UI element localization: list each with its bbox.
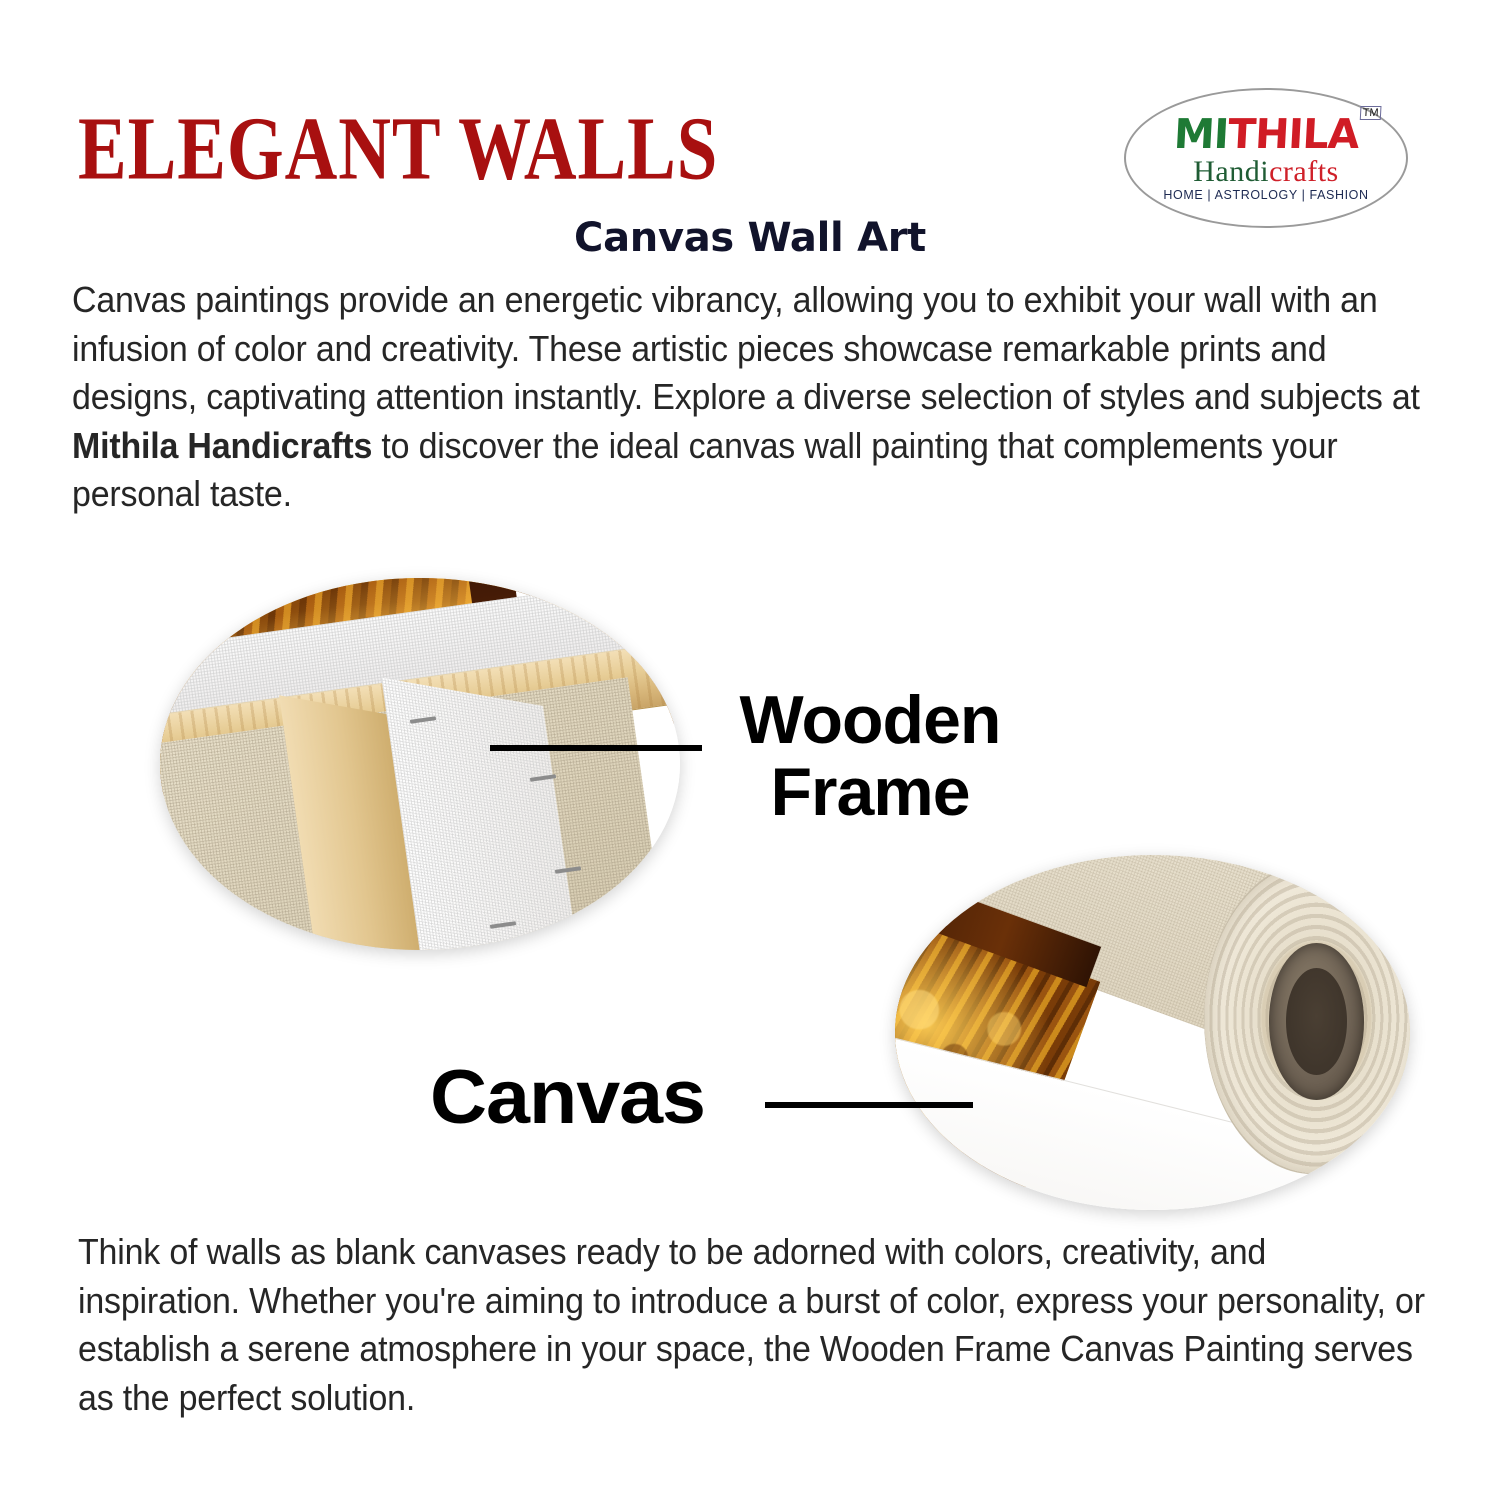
- page-title: ELEGANT WALLS: [78, 104, 718, 194]
- brand-logo: MITHILA TM Handicrafts HOME | ASTROLOGY …: [1124, 88, 1408, 228]
- page-subtitle: Canvas Wall Art: [0, 215, 1500, 261]
- wooden-frame-label-line-1: Wooden: [700, 684, 1040, 756]
- wooden-frame-photo: [160, 578, 680, 950]
- logo-wordmark-part-1: MI: [1173, 110, 1230, 158]
- brand-mention: Mithila Handicrafts: [72, 425, 372, 466]
- logo-tagline: HOME | ASTROLOGY | FASHION: [1163, 188, 1368, 202]
- wooden-frame-label-line-2: Frame: [700, 756, 1040, 828]
- trademark-icon: TM: [1359, 106, 1382, 120]
- cardboard-core: [1269, 943, 1364, 1099]
- intro-paragraph: Canvas paintings provide an energetic vi…: [72, 276, 1430, 519]
- logo-wordmark-part-2: THILA: [1227, 110, 1360, 158]
- closing-paragraph: Think of walls as blank canvases ready t…: [78, 1228, 1427, 1422]
- logo-subword: Handicrafts: [1193, 156, 1338, 188]
- logo-subword-part-2: crafts: [1269, 155, 1339, 188]
- intro-paragraph-part-1: Canvas paintings provide an energetic vi…: [72, 279, 1420, 417]
- canvas-roll-photo: [895, 855, 1410, 1210]
- canvas-leader-line: [765, 1102, 973, 1108]
- wooden-frame-callout-label: Wooden Frame: [700, 684, 1040, 828]
- wooden-frame-leader-line: [490, 745, 702, 751]
- logo-content: MITHILA TM Handicrafts HOME | ASTROLOGY …: [1124, 88, 1408, 228]
- canvas-roll-body: [1204, 862, 1410, 1174]
- logo-subword-part-1: Handi: [1193, 155, 1269, 188]
- infographic-page: ELEGANT WALLS MITHILA TM Handicrafts HOM…: [0, 0, 1500, 1500]
- cardboard-core-hole: [1286, 968, 1347, 1074]
- canvas-callout-label: Canvas: [430, 1060, 705, 1136]
- logo-wordmark: MITHILA TM: [1173, 114, 1360, 155]
